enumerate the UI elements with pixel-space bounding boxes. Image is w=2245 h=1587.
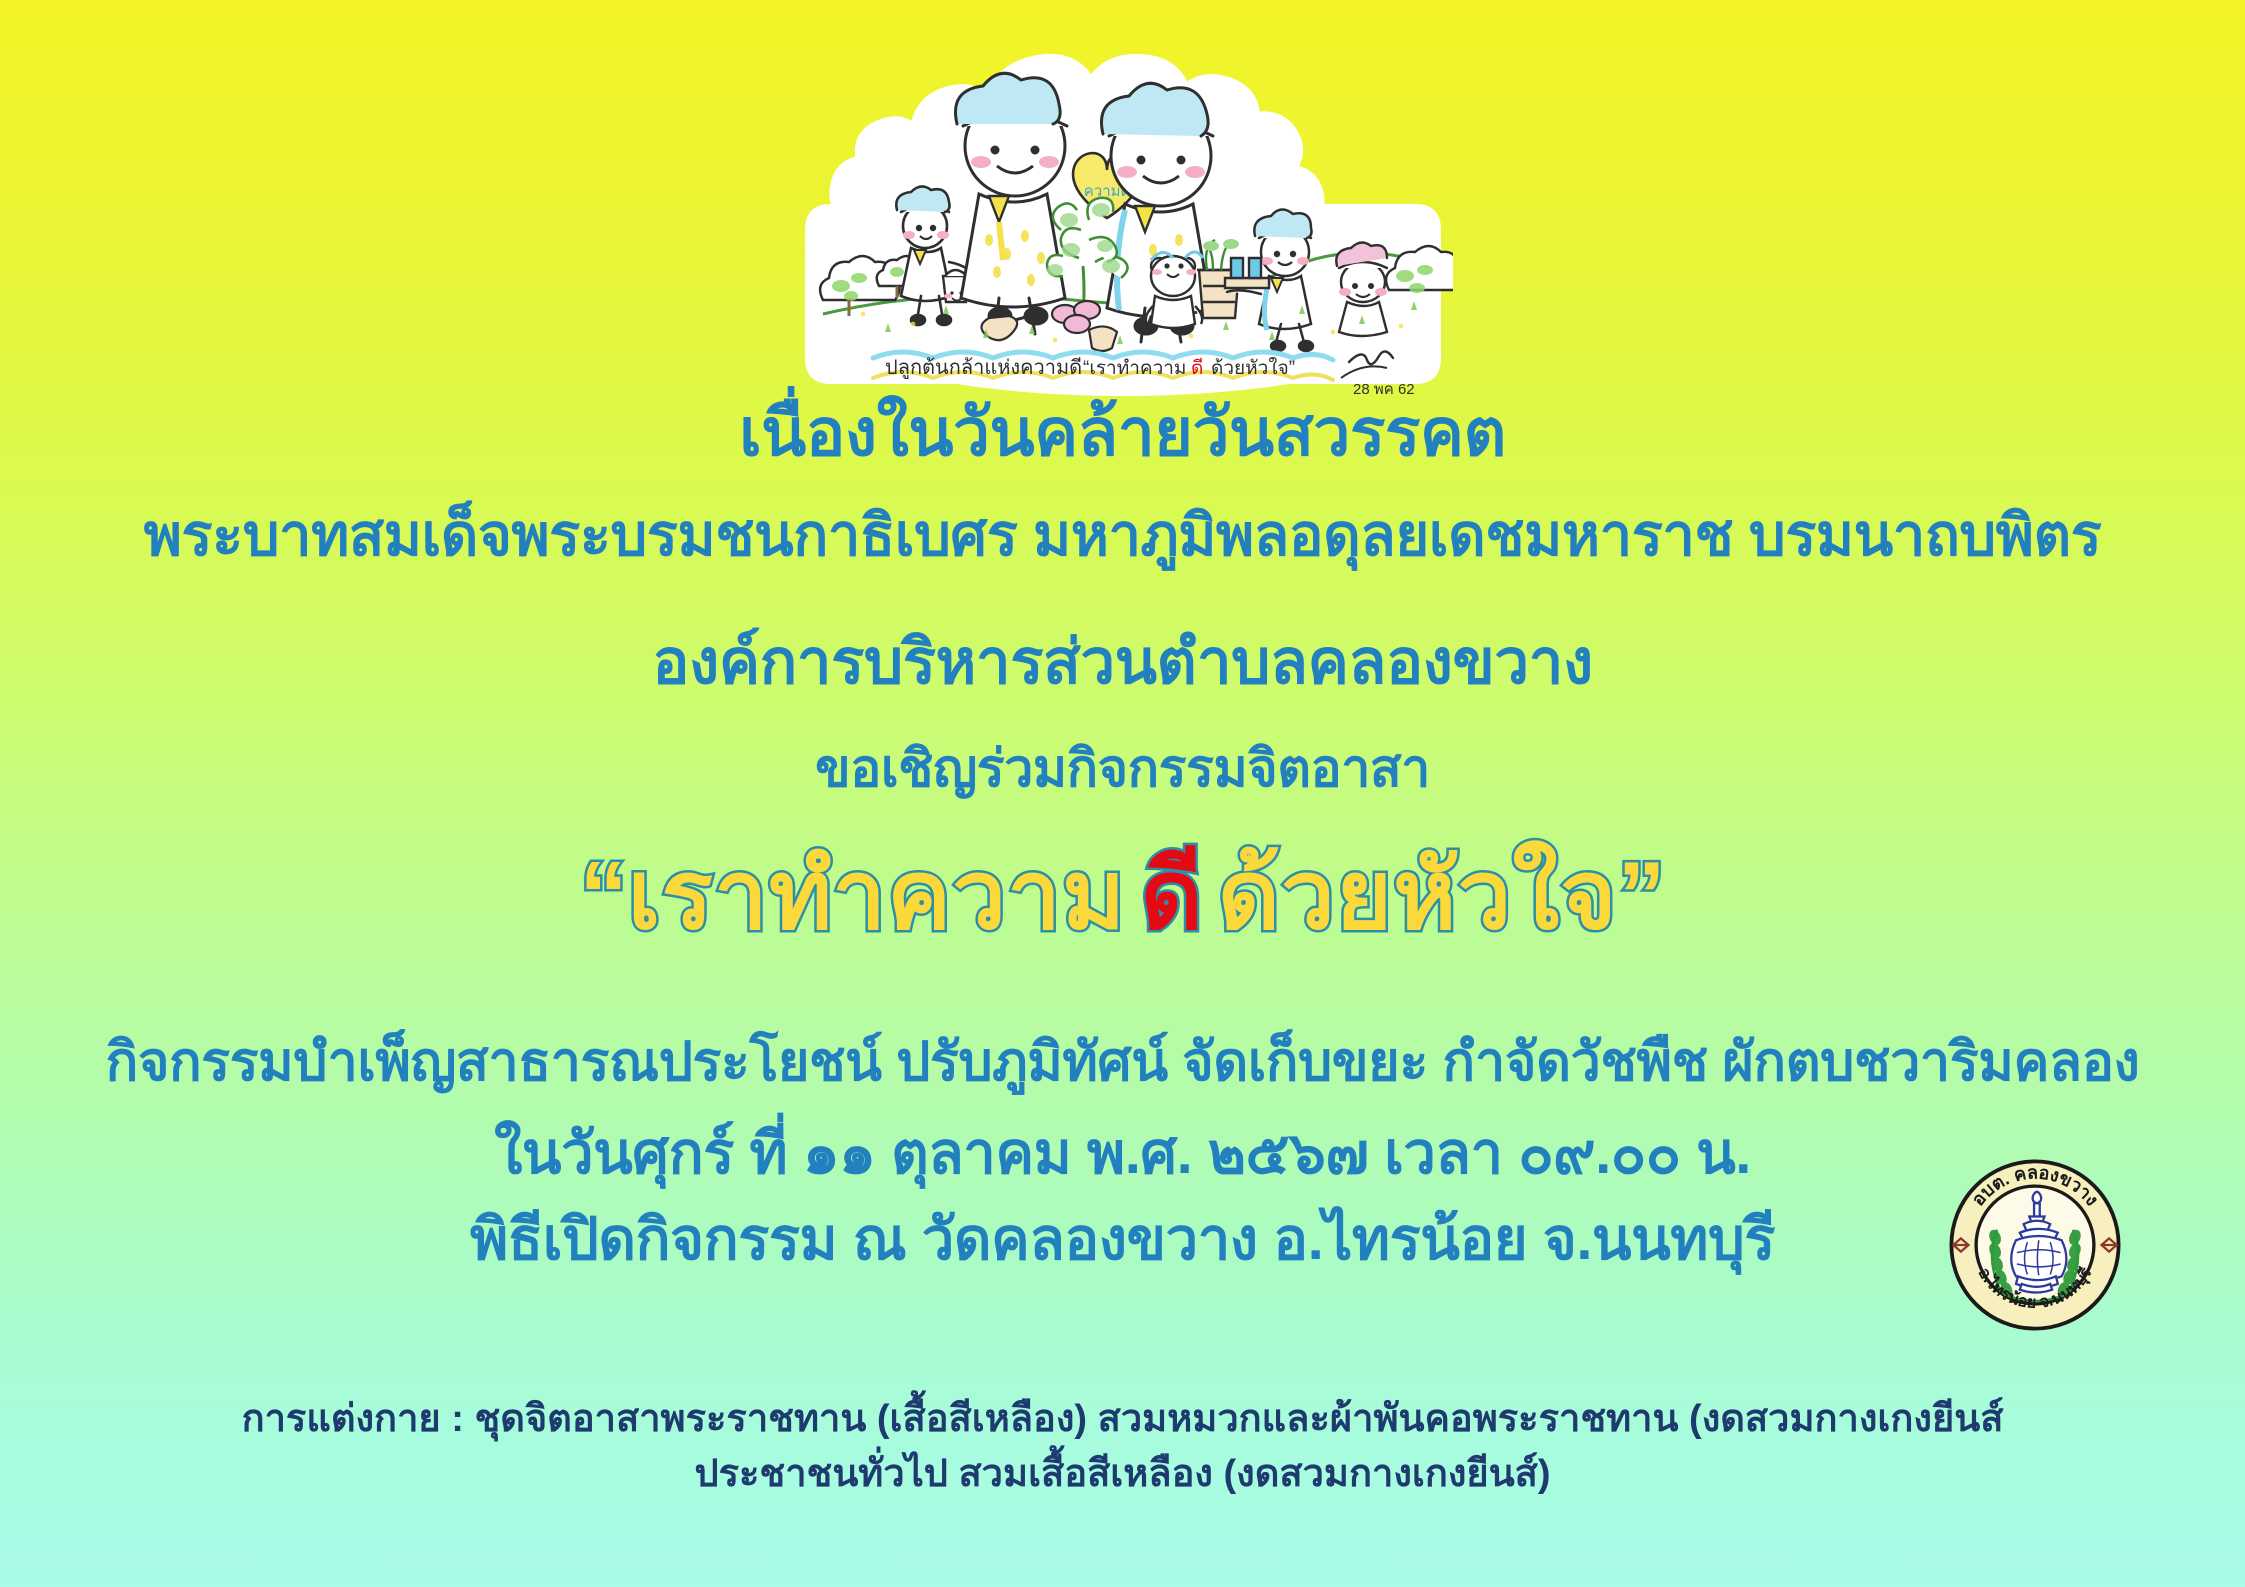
announcement-poster: ความดี — [0, 0, 2245, 1587]
dresscode-note: การแต่งกาย : ชุดจิตอาสาพระราชทาน (เสื้อส… — [0, 1392, 2245, 1502]
occasion-heading: เนื่องในวันคล้ายวันสวรรคต — [0, 398, 2245, 467]
municipal-seal-icon: อบต. คลองขวาง อ.ไทรน้อย จ.นนทบุรี — [1940, 1150, 2130, 1340]
dresscode-line-2: ประชาชนทั่วไป สวมเสื้อสีเหลือง (งดสวมกาง… — [0, 1447, 2245, 1502]
อบต-คลองขวาง-seal: อบต. คลองขวาง อ.ไทรน้อย จ.นนทบุรี — [1940, 1150, 2130, 1340]
svg-text:ด้วยหัวใจ”: ด้วยหัวใจ” — [1211, 357, 1295, 379]
campaign-slogan: “เราทำความดีด้วยหัวใจ” — [0, 846, 2245, 947]
slogan-close-quote: ” — [1617, 842, 1665, 949]
activity-description: กิจกรรมบำเพ็ญสาธารณประโยชน์ ปรับภูมิทัศน… — [0, 1034, 2245, 1091]
king-title-heading: พระบาทสมเด็จพระบรมชนกาธิเบศร มหาภูมิพลอด… — [0, 506, 2245, 567]
slogan-highlight-dee: ดี — [1126, 842, 1217, 949]
illustration-caption-quote: “เราทำความ — [1083, 358, 1186, 379]
event-datetime: ในวันศุกร์ ที่ ๑๑ ตุลาคม พ.ศ. ๒๕๖๗ เวลา … — [0, 1124, 2245, 1185]
slogan-open-quote: “ — [580, 842, 628, 949]
invitation-heading: ขอเชิญร่วมกิจกรรมจิตอาสา — [0, 742, 2245, 797]
slogan-part-two: ด้วยหัวใจ — [1218, 842, 1618, 949]
slogan-part-one: เราทำความ — [628, 842, 1127, 949]
illustration-container: ความดี — [0, 14, 2245, 399]
organization-heading: องค์การบริหารส่วนตำบลคลองขวาง — [0, 630, 2245, 695]
svg-text:ดี: ดี — [1191, 357, 1203, 379]
dresscode-line-1: การแต่งกาย : ชุดจิตอาสาพระราชทาน (เสื้อส… — [0, 1392, 2245, 1447]
illustration-caption: ปลูกต้นกล้าแห่งความดี — [885, 357, 1082, 380]
volunteer-children-gardening-illustration: ความดี — [793, 14, 1453, 399]
event-venue: พิธีเปิดกิจกรรม ณ วัดคลองขวาง อ.ไทรน้อย … — [0, 1210, 2245, 1271]
